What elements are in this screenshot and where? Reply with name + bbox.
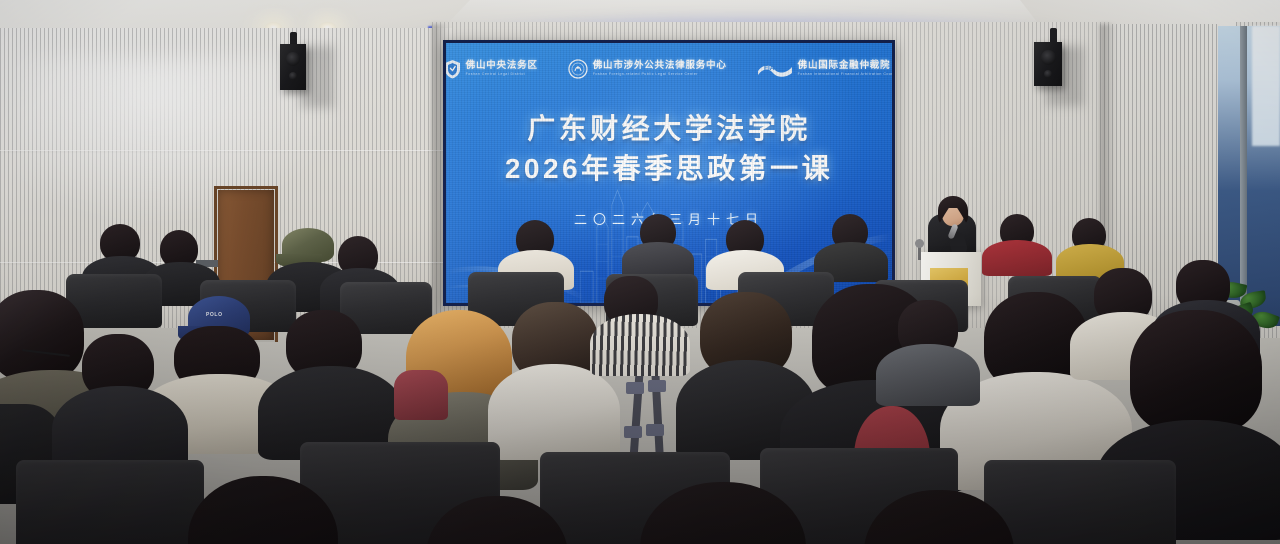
logo-foshan-central-legal-district: 佛山中央法务区 Foshan Central Legal District [446,59,538,79]
audience-head [1130,310,1262,434]
logo-label-en: Foshan International Financial Arbitrati… [798,73,892,77]
lecture-hall-photo: 佛山中央法务区 Foshan Central Legal District 佛山… [0,0,1280,544]
logo-label-cn: 佛山国际金融仲裁院 [798,61,892,71]
window-daylight [1252,26,1280,146]
speaker-tweeter-icon [289,72,297,80]
speaker-tweeter-icon [1044,70,1052,78]
wall-speaker-right [1034,42,1062,86]
audience-shoulders-white-top [488,364,620,460]
audience-top-red [394,370,448,420]
svg-text:FIAC: FIAC [764,65,779,72]
wall-seam [0,150,452,151]
audience-head [0,290,84,382]
logo-label-en: Foshan Foreign-related Public Legal Serv… [593,73,727,77]
shield-icon [446,59,461,79]
audience-shoulders-striped [590,314,690,376]
fiac-wave-icon: FIAC [757,60,793,78]
logo-label-cn: 佛山中央法务区 [466,61,538,71]
speaker-cone-icon [1041,50,1056,65]
audience-shoulders [982,240,1052,276]
logo-foshan-international-financial-arbitration: FIAC 佛山国际金融仲裁院 Foshan International Fina… [757,60,892,78]
chair-foreground[interactable] [984,460,1176,544]
screen-title-block: 广东财经大学法学院 2026年春季思政第一课 [446,109,892,189]
audience-area: POLO [0,214,1280,544]
screen-title-line-1: 广东财经大学法学院 [446,109,892,149]
chair-clip [646,424,664,436]
speaker-cone-icon [286,52,300,66]
logo-text: 佛山市涉外公共法律服务中心 Foshan Foreign-related Pub… [593,61,727,76]
circle-seal-icon [568,59,588,79]
screen-title-line-2: 2026年春季思政第一课 [446,149,892,189]
logo-text: 佛山中央法务区 Foshan Central Legal District [466,61,538,76]
chair-clip [648,380,666,392]
logo-foshan-foreign-legal-service-center: 佛山市涉外公共法律服务中心 Foshan Foreign-related Pub… [568,59,727,79]
cap-logo-label: POLO [206,312,223,318]
chair-clip [624,426,642,438]
wall-speaker-left [280,44,306,90]
chair-clip [626,382,644,394]
audience-shoulders [876,344,980,406]
logo-label-en: Foshan Central Legal District [466,73,538,77]
logo-text: 佛山国际金融仲裁院 Foshan International Financial… [798,61,892,76]
screen-logo-row: 佛山中央法务区 Foshan Central Legal District 佛山… [446,59,892,79]
logo-label-cn: 佛山市涉外公共法律服务中心 [593,61,727,71]
chair-foreground[interactable] [16,460,204,544]
